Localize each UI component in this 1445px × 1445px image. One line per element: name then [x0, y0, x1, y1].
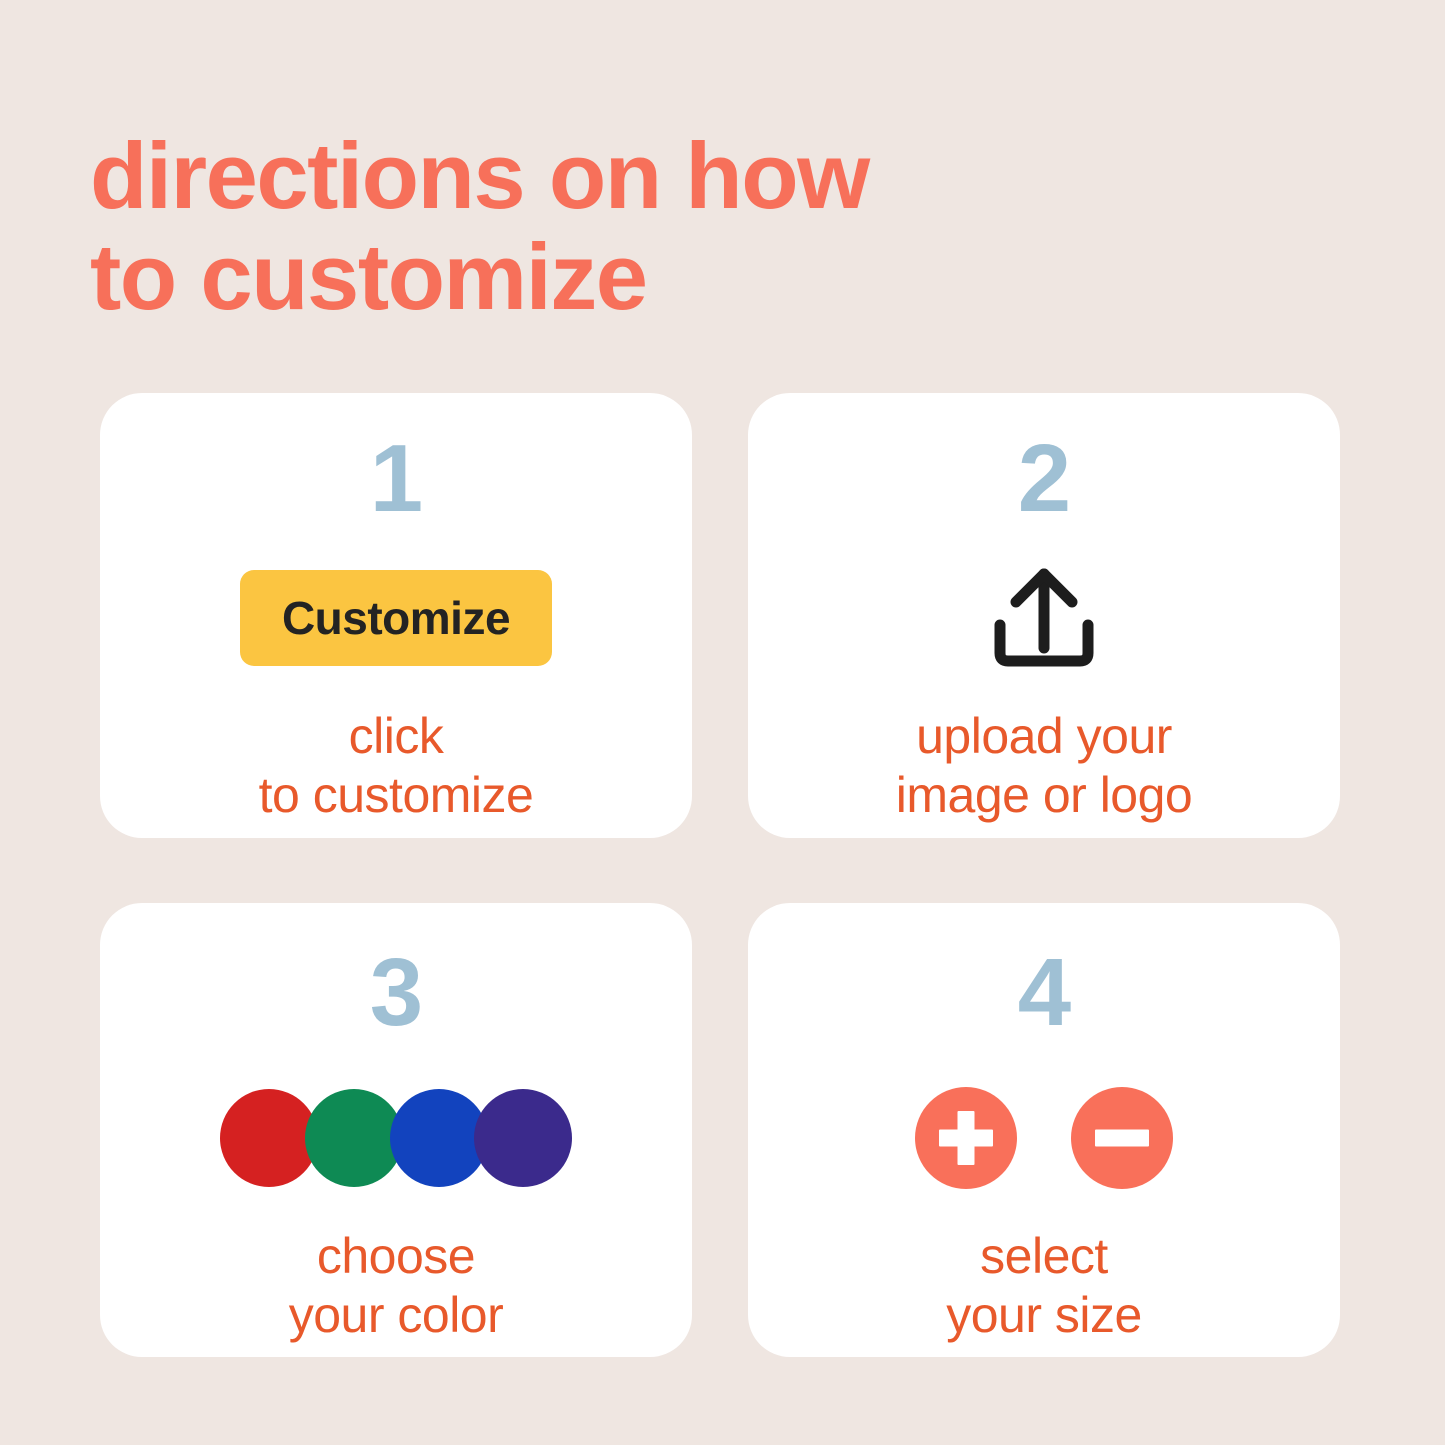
step-card-2: 2 upload your image or logo	[748, 393, 1340, 838]
step-4-caption: select your size	[946, 1227, 1142, 1345]
step-number-2: 2	[1018, 431, 1070, 527]
color-swatch-green[interactable]	[305, 1089, 403, 1187]
step-card-3: 3 choose your color	[100, 903, 692, 1357]
step-4-visual	[915, 1083, 1173, 1193]
color-swatch-red[interactable]	[220, 1089, 318, 1187]
color-swatch-group	[220, 1089, 572, 1187]
step-3-caption-line-1: choose	[289, 1227, 504, 1286]
step-3-visual	[220, 1083, 572, 1193]
color-swatch-purple[interactable]	[474, 1089, 572, 1187]
page-title: directions on how to customize	[90, 125, 1190, 328]
step-2-caption-line-1: upload your	[896, 707, 1192, 766]
step-1-visual: Customize	[240, 563, 552, 673]
step-4-caption-line-1: select	[946, 1227, 1142, 1286]
decrease-size-button[interactable]	[1071, 1087, 1173, 1189]
step-1-caption-line-1: click	[259, 707, 534, 766]
step-card-4: 4 select your size	[748, 903, 1340, 1357]
step-1-caption-line-2: to customize	[259, 766, 534, 825]
step-3-caption: choose your color	[289, 1227, 504, 1345]
step-number-4: 4	[1018, 945, 1070, 1041]
step-number-1: 1	[370, 431, 422, 527]
step-2-caption: upload your image or logo	[896, 707, 1192, 825]
step-2-visual	[985, 563, 1103, 673]
page-title-line-1: directions on how	[90, 125, 1190, 227]
size-stepper-group	[915, 1087, 1173, 1189]
step-3-caption-line-2: your color	[289, 1286, 504, 1345]
step-2-caption-line-2: image or logo	[896, 766, 1192, 825]
plus-icon-vertical	[958, 1111, 975, 1165]
customize-button[interactable]: Customize	[240, 570, 552, 666]
upload-icon	[985, 562, 1103, 674]
step-1-caption: click to customize	[259, 707, 534, 825]
steps-grid: 1 Customize click to customize 2	[100, 393, 1340, 1357]
increase-size-button[interactable]	[915, 1087, 1017, 1189]
minus-icon	[1095, 1130, 1149, 1147]
instructions-page: directions on how to customize 1 Customi…	[0, 0, 1445, 1445]
step-card-1: 1 Customize click to customize	[100, 393, 692, 838]
page-title-line-2: to customize	[90, 226, 1190, 328]
step-number-3: 3	[370, 945, 422, 1041]
step-4-caption-line-2: your size	[946, 1286, 1142, 1345]
